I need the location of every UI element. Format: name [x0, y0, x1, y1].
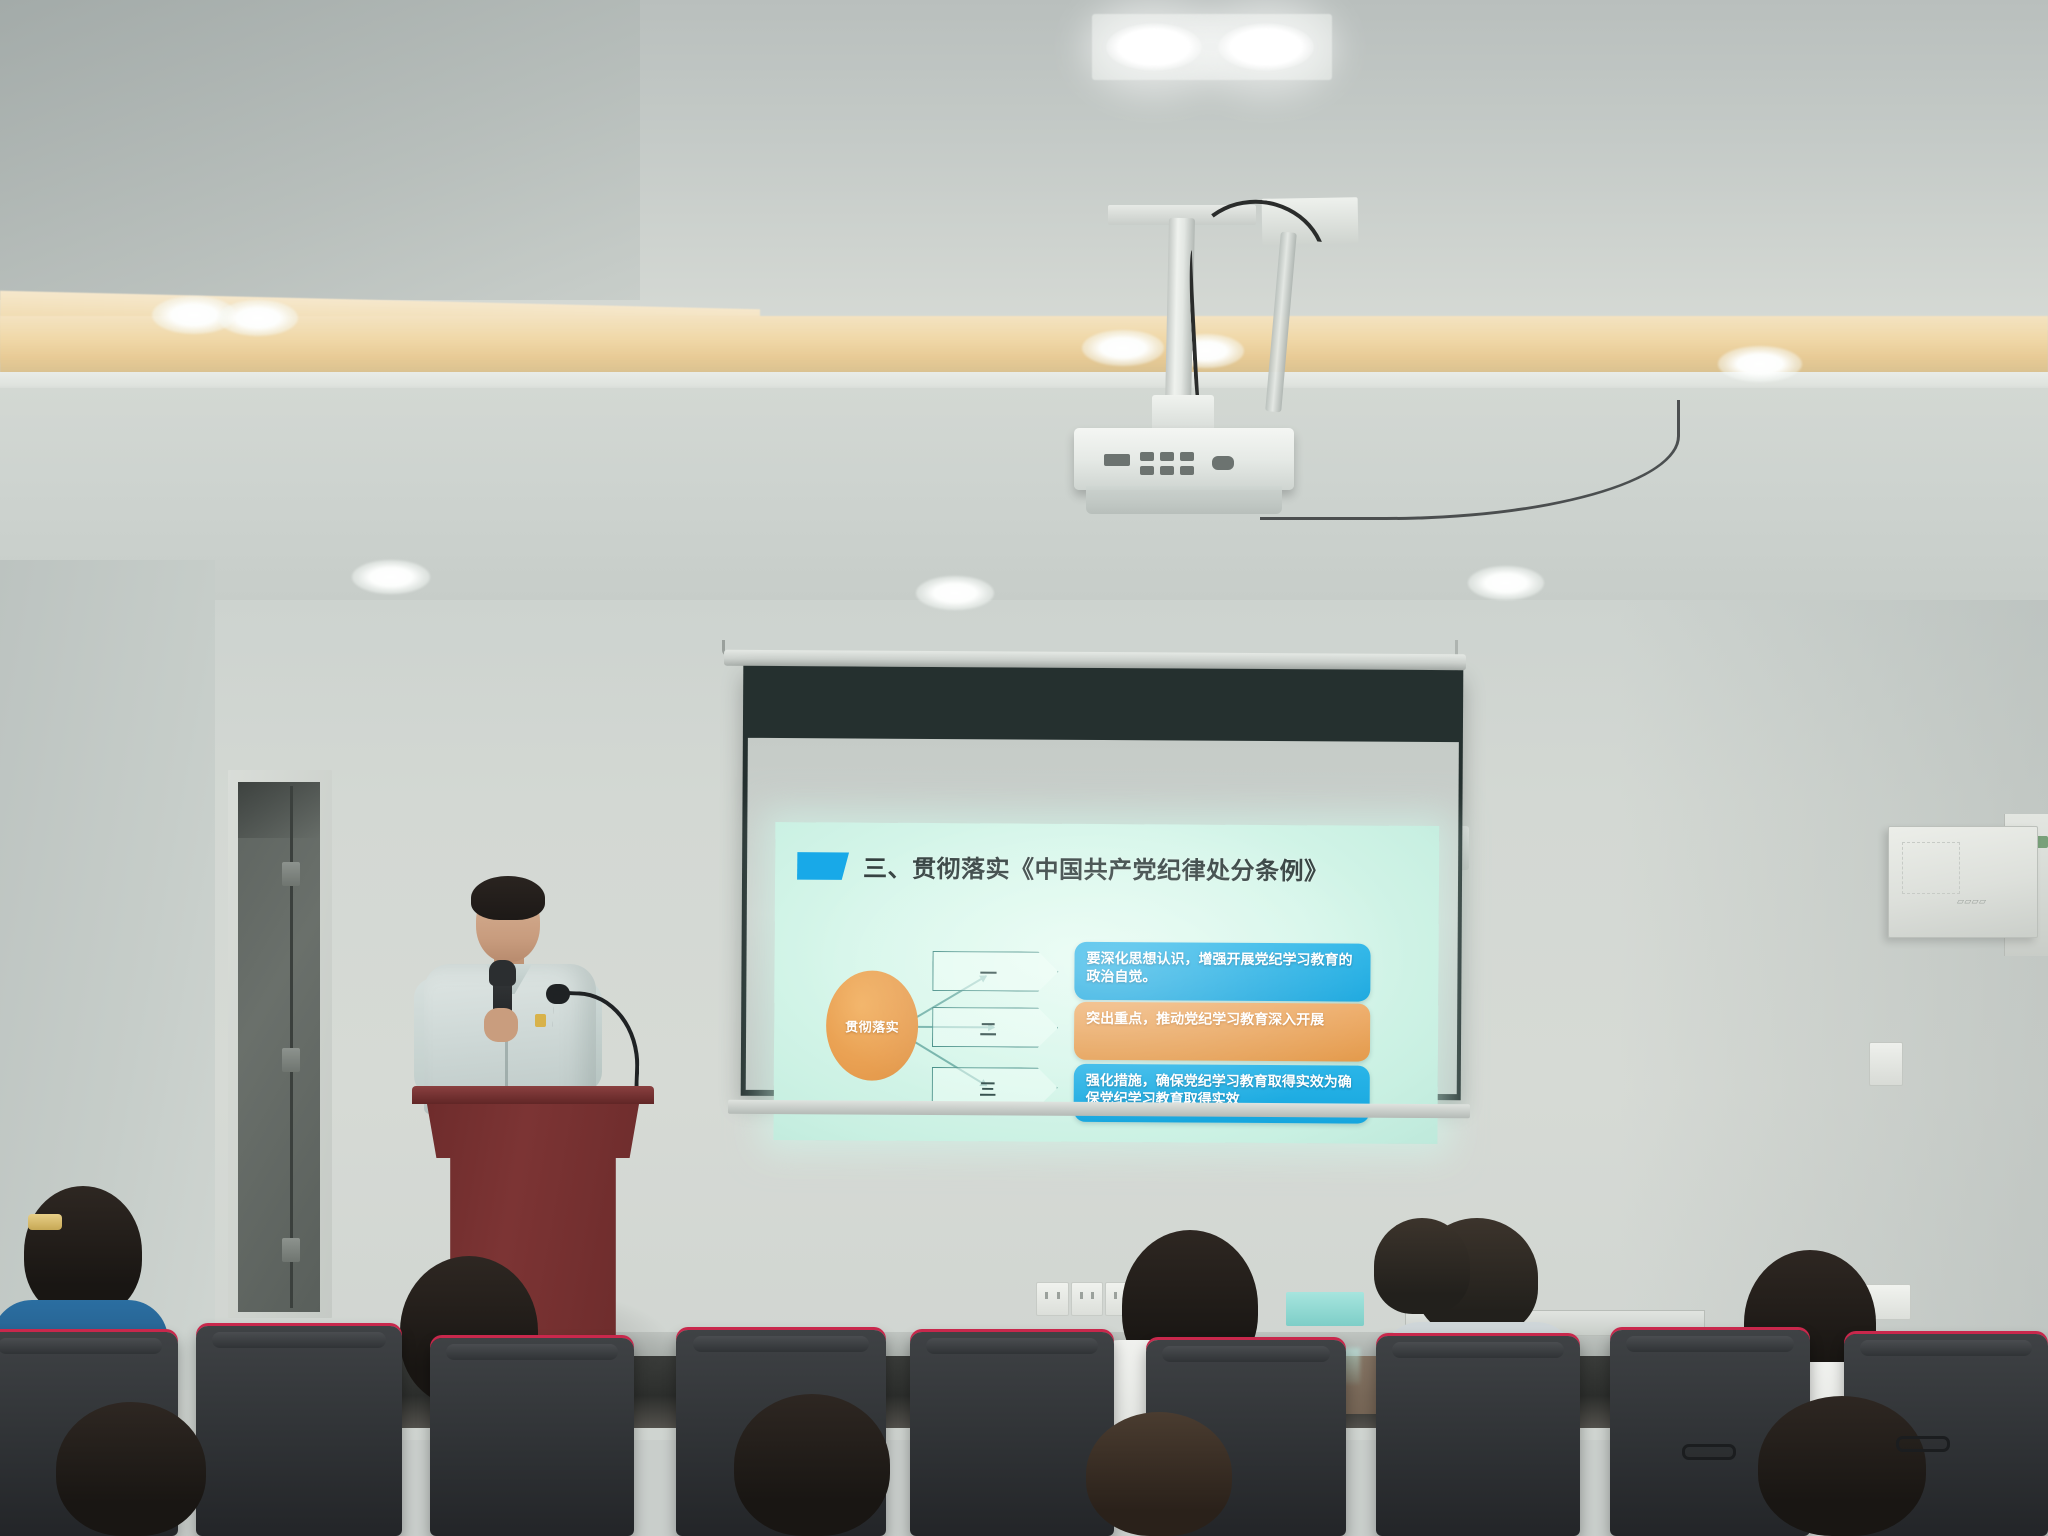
seat-rail	[1626, 1336, 1794, 1352]
audience-head	[1758, 1396, 1926, 1536]
projector-port	[1104, 454, 1130, 466]
seat-rail	[212, 1332, 385, 1348]
screen-surface: 三、贯彻落实《中国共产党纪律处分条例》 贯彻落实 一 二 三	[746, 738, 1459, 1094]
wall-control-box-logo: ▱▱▱▱	[1957, 896, 1986, 907]
audience-seat[interactable]	[1376, 1336, 1580, 1536]
slide-item-1-box: 要深化思想认识，增强开展党纪学习教育的政治自觉。	[1074, 942, 1370, 1002]
projected-slide: 三、贯彻落实《中国共产党纪律处分条例》 贯彻落实 一 二 三	[773, 822, 1439, 1144]
doorway[interactable]	[238, 782, 320, 1312]
projector-port	[1140, 466, 1154, 475]
audience-head	[734, 1394, 890, 1536]
seat-rail	[926, 1338, 1097, 1354]
device-screen-glow	[1286, 1292, 1364, 1326]
chevron-marker-3-label: 三	[979, 1075, 996, 1100]
projector-port	[1160, 466, 1174, 475]
downlight-icon	[1082, 330, 1164, 366]
door-hinge	[282, 862, 300, 886]
presentation-room-scene: 三、贯彻落实《中国共产党纪律处分条例》 贯彻落实 一 二 三	[0, 0, 2048, 1536]
projector-port	[1160, 452, 1174, 461]
downlight-icon	[916, 576, 994, 610]
microphone-head-icon	[489, 960, 516, 986]
presenter-hand	[484, 1008, 518, 1042]
downlight-icon	[218, 300, 298, 336]
door-hinge	[282, 1238, 300, 1262]
lapel-badge	[535, 1014, 546, 1027]
projector-port	[1180, 466, 1194, 475]
slide-item-2-box: 突出重点，推动党纪学习教育深入开展	[1074, 1002, 1370, 1062]
wall-outlet[interactable]	[1071, 1282, 1104, 1316]
chevron-marker-2-label: 二	[980, 1015, 997, 1040]
audience-seat[interactable]	[430, 1338, 634, 1536]
eyeglasses-icon	[1682, 1444, 1736, 1460]
seat-rail	[446, 1344, 617, 1360]
audience-seat[interactable]	[910, 1332, 1114, 1536]
dual-downlight-icon	[1092, 14, 1332, 80]
projector-underside	[1086, 486, 1282, 514]
wall-outlet[interactable]	[1036, 1282, 1069, 1316]
wall-control-box-panel	[1902, 842, 1960, 894]
seat-rail	[0, 1338, 162, 1354]
projection-screen[interactable]: 三、贯彻落实《中国共产党纪律处分条例》 贯彻落实 一 二 三	[741, 666, 1464, 1100]
audience-head	[56, 1402, 206, 1536]
downlight-icon	[352, 560, 430, 594]
downlight-icon	[1718, 346, 1802, 382]
slide-title: 三、贯彻落实《中国共产党纪律处分条例》	[863, 849, 1329, 887]
audience-seat[interactable]	[196, 1326, 402, 1536]
slide-hub-circle: 贯彻落实	[826, 970, 919, 1081]
seat-rail	[1392, 1342, 1563, 1358]
chevron-marker-1: 一	[932, 951, 1058, 992]
light-switch-plate[interactable]	[1869, 1042, 1903, 1086]
title-accent-chip-icon	[797, 852, 849, 880]
seat-rail	[1860, 1340, 2031, 1356]
hair-clip-icon	[28, 1214, 62, 1230]
seat-rail	[1162, 1346, 1330, 1362]
chevron-marker-2: 二	[932, 1007, 1058, 1048]
downlight-icon	[1468, 566, 1544, 600]
presenter-hair	[471, 876, 545, 920]
chevron-marker-1-label: 一	[980, 959, 997, 984]
projector-port	[1140, 452, 1154, 461]
ceiling-left-slope	[0, 0, 640, 300]
seat-rail	[693, 1336, 869, 1352]
podium-top-surface	[412, 1086, 654, 1104]
audience-head	[1374, 1218, 1470, 1314]
soffit	[0, 388, 2048, 618]
projector-port	[1180, 452, 1194, 461]
slide-title-row: 三、贯彻落实《中国共产党纪律处分条例》	[797, 848, 1329, 886]
slide-hub-label: 贯彻落实	[845, 1016, 899, 1035]
projector-lens	[1212, 456, 1234, 470]
audience-head	[1086, 1412, 1232, 1536]
door-shadow	[238, 782, 320, 838]
audience-head	[24, 1186, 142, 1318]
eyeglasses-icon	[1896, 1436, 1950, 1452]
door-hinge	[282, 1048, 300, 1072]
